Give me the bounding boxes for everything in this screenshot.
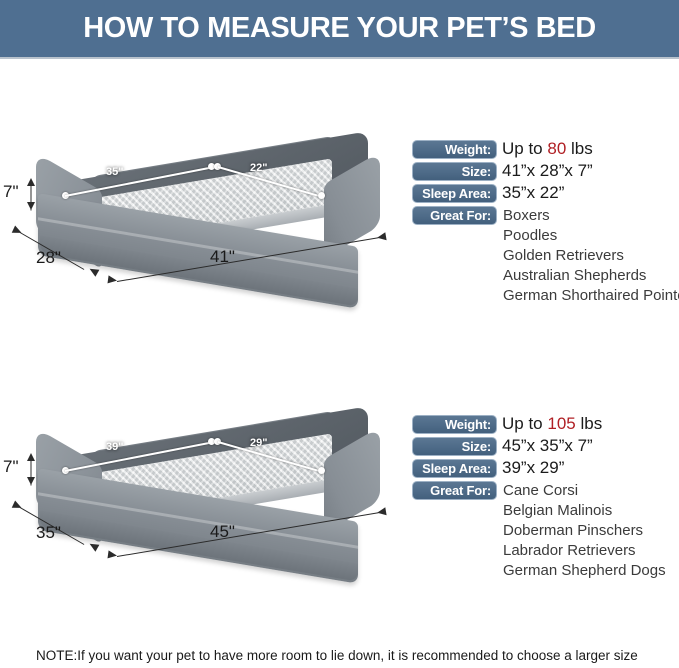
bed-illustration: 35" 22" 7" 28" 41"	[0, 140, 410, 325]
spec-label-sleep-area: Sleep Area:	[412, 459, 497, 478]
spec-label-size: Size:	[412, 437, 497, 456]
breed-item: Labrador Retrievers	[503, 542, 636, 559]
spec-label-weight: Weight:	[412, 140, 497, 159]
spec-value-weight: Up to 80 lbs	[502, 139, 593, 159]
header-banner: HOW TO MEASURE YOUR PET’S BED	[0, 0, 679, 59]
spec-row-great-for: Great For: Cane Corsi Belgian Malinois D…	[412, 481, 679, 501]
height-label: 7"	[3, 182, 19, 202]
bed-illustration: 39" 29" 7" 35" 45"	[0, 415, 410, 600]
bed-size-section: 39" 29" 7" 35" 45" Weight: Up to 105 lbs	[0, 415, 679, 600]
page-title: HOW TO MEASURE YOUR PET’S BED	[83, 12, 596, 45]
sleep-width-end-dot	[318, 467, 325, 474]
height-arrow-bottom	[27, 202, 35, 210]
spec-row-weight: Weight: Up to 105 lbs	[412, 415, 679, 435]
breed-item: Belgian Malinois	[503, 502, 612, 519]
width-arrow-end	[376, 507, 386, 516]
spec-label-size: Size:	[412, 162, 497, 181]
bed-size-section: 35" 22" 7" 28" 41" Weight: Up to 80 lbs	[0, 140, 679, 325]
spec-row-great-for: Great For: Boxers Poodles Golden Retriev…	[412, 206, 679, 226]
sleep-width-label: 29"	[250, 437, 267, 449]
width-label: 45"	[210, 522, 235, 542]
spec-value-size: 41”x 28”x 7”	[502, 161, 593, 181]
spec-row-weight: Weight: Up to 80 lbs	[412, 140, 679, 160]
spec-panel: Weight: Up to 80 lbs Size: 41”x 28”x 7” …	[412, 140, 679, 228]
spec-value-sleep-area: 35”x 22”	[502, 183, 564, 203]
sleep-length-label: 35"	[106, 166, 123, 178]
depth-arrow-start	[12, 225, 24, 236]
spec-value-size: 45”x 35”x 7”	[502, 436, 593, 456]
spec-label-weight: Weight:	[412, 415, 497, 434]
depth-label: 28"	[36, 248, 61, 268]
spec-label-sleep-area: Sleep Area:	[412, 184, 497, 203]
breed-item: Doberman Pinschers	[503, 522, 643, 539]
weight-number: 105	[547, 414, 575, 433]
depth-arrow-start	[12, 500, 24, 511]
spec-row-size: Size: 45”x 35”x 7”	[412, 437, 679, 457]
spec-row-sleep-area: Sleep Area: 39”x 29”	[412, 459, 679, 479]
breed-item: Australian Shepherds	[503, 267, 646, 284]
spec-label-great-for: Great For:	[412, 206, 497, 225]
height-arrow-bottom	[27, 477, 35, 485]
breed-item: Golden Retrievers	[503, 247, 624, 264]
spec-panel: Weight: Up to 105 lbs Size: 45”x 35”x 7”…	[412, 415, 679, 503]
spec-label-great-for: Great For:	[412, 481, 497, 500]
width-label: 41"	[210, 247, 235, 267]
weight-number: 80	[547, 139, 566, 158]
height-label: 7"	[3, 457, 19, 477]
width-arrow-end	[376, 232, 386, 241]
breed-item: Boxers	[503, 207, 550, 224]
spec-value-sleep-area: 39”x 29”	[502, 458, 564, 478]
sleep-width-end-dot	[318, 192, 325, 199]
breed-item: Cane Corsi	[503, 482, 578, 499]
spec-row-size: Size: 41”x 28”x 7”	[412, 162, 679, 182]
depth-label: 35"	[36, 523, 61, 543]
spec-value-weight: Up to 105 lbs	[502, 414, 602, 434]
footer-note: NOTE:If you want your pet to have more r…	[36, 648, 656, 663]
sleep-width-label: 22"	[250, 162, 267, 174]
breed-item: German Shepherd Dogs	[503, 562, 666, 579]
breed-item: German Shorthaired Pointers	[503, 287, 679, 304]
spec-row-sleep-area: Sleep Area: 35”x 22”	[412, 184, 679, 204]
breed-item: Poodles	[503, 227, 557, 244]
sleep-length-label: 39"	[106, 441, 123, 453]
